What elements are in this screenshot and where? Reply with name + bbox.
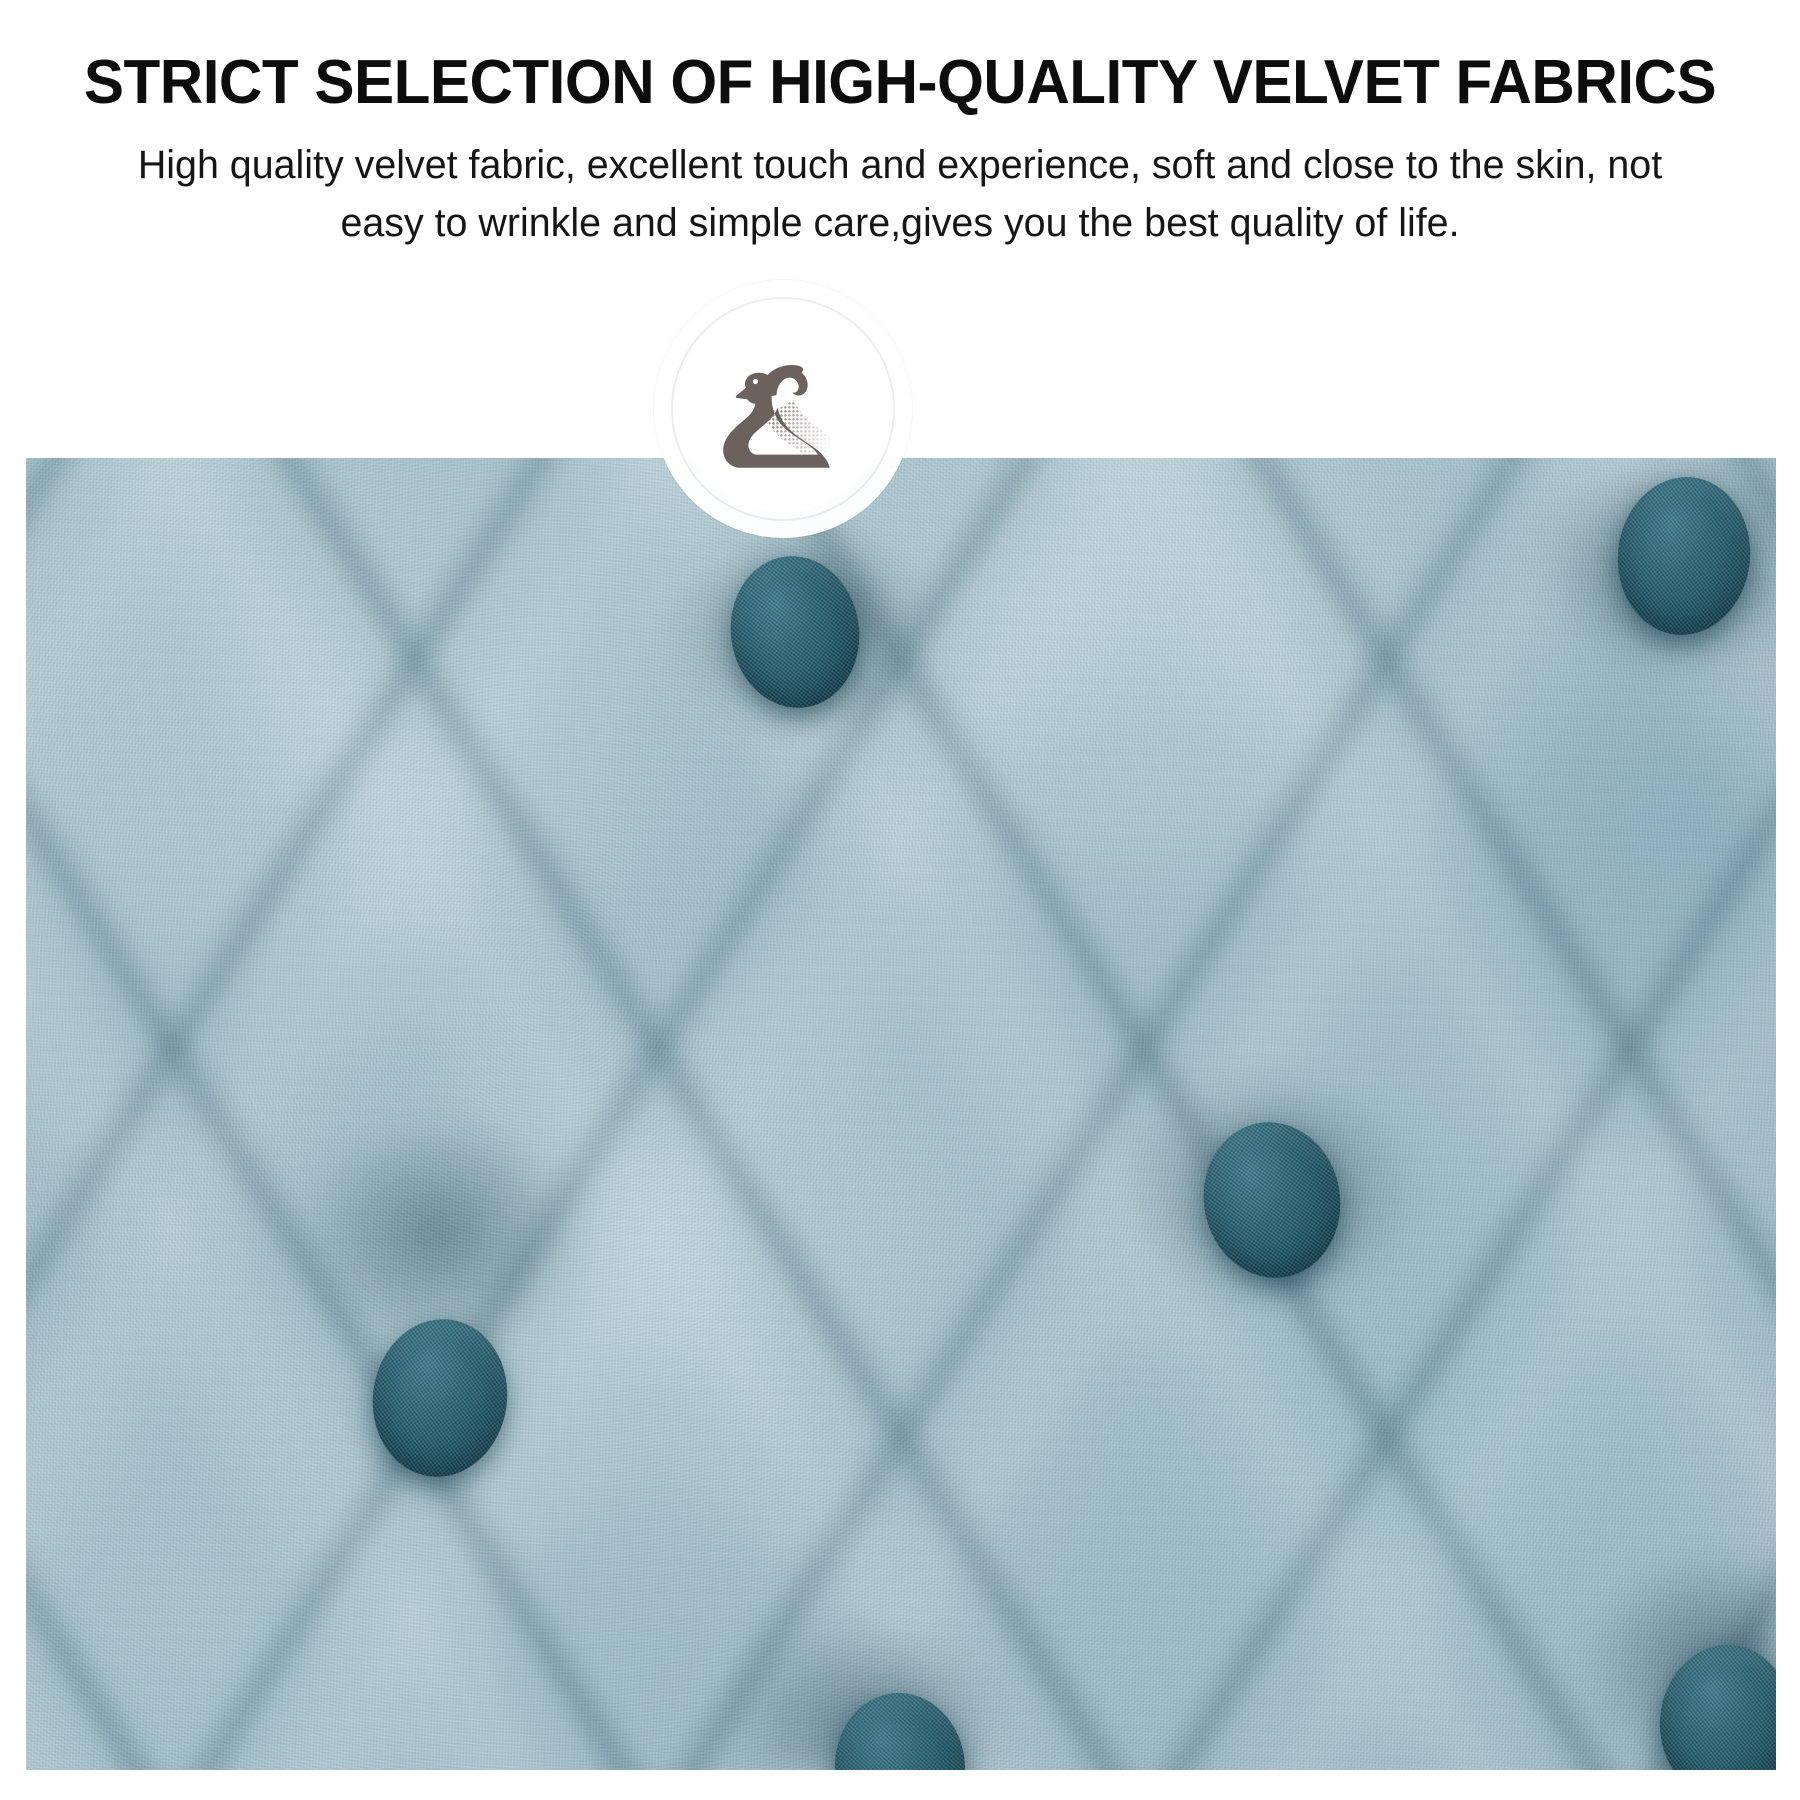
page-title: STRICT SELECTION OF HIGH-QUALITY VELVET … — [27, 0, 1773, 114]
swan-eye — [753, 379, 758, 384]
swan-icon — [708, 350, 858, 468]
page-subtitle: High quality velvet fabric, excellent to… — [132, 114, 1669, 252]
header-block: STRICT SELECTION OF HIGH-QUALITY VELVET … — [0, 0, 1800, 252]
product-feature-banner: STRICT SELECTION OF HIGH-QUALITY VELVET … — [0, 0, 1800, 1800]
fabric-tuft-highlights — [26, 458, 1776, 1770]
velvet-fabric-photo — [26, 458, 1776, 1770]
brand-badge — [654, 280, 912, 538]
